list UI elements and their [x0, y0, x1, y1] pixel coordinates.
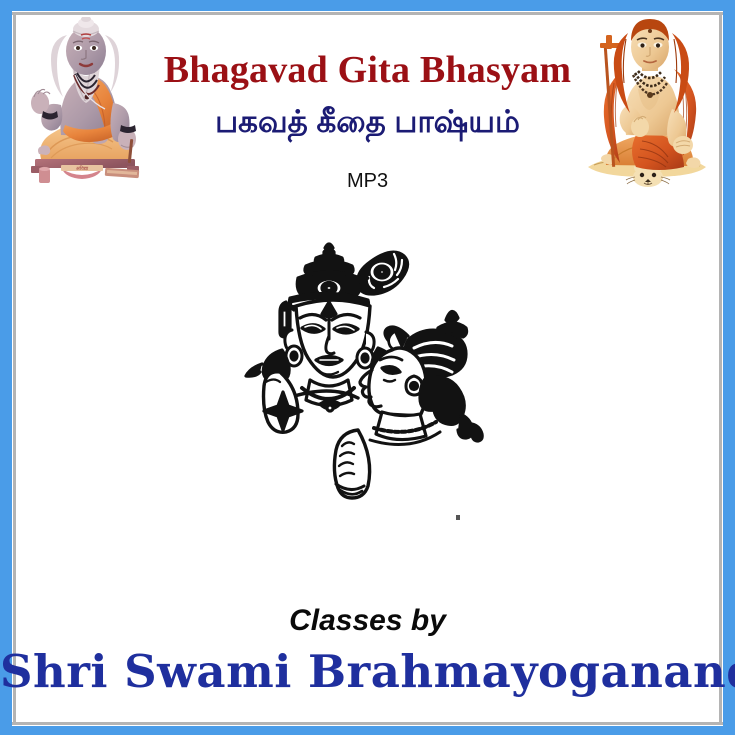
sage-vyasa-illustration: अविद्या — [17, 17, 153, 189]
album-cover: अविद्या — [0, 0, 735, 735]
format-label: MP3 — [0, 170, 735, 193]
page-title: Bhagavad Gita Bhasyam — [0, 48, 735, 92]
border-top-gray — [12, 12, 723, 15]
speaker-name: Shri Swami Brahmayogananda — [0, 645, 735, 698]
border-bottom-gray — [12, 722, 723, 725]
adi-shankaracharya-illustration — [578, 17, 718, 189]
krishna-arjuna-line-art — [232, 232, 500, 500]
border-bottom-blue — [0, 726, 735, 735]
dust-speck-artifact — [456, 515, 460, 520]
credit-line: Classes by — [0, 604, 735, 638]
page-title-tamil: பகவத் கீதை பாஷ்யம் — [0, 104, 735, 144]
border-top-blue — [0, 0, 735, 11]
